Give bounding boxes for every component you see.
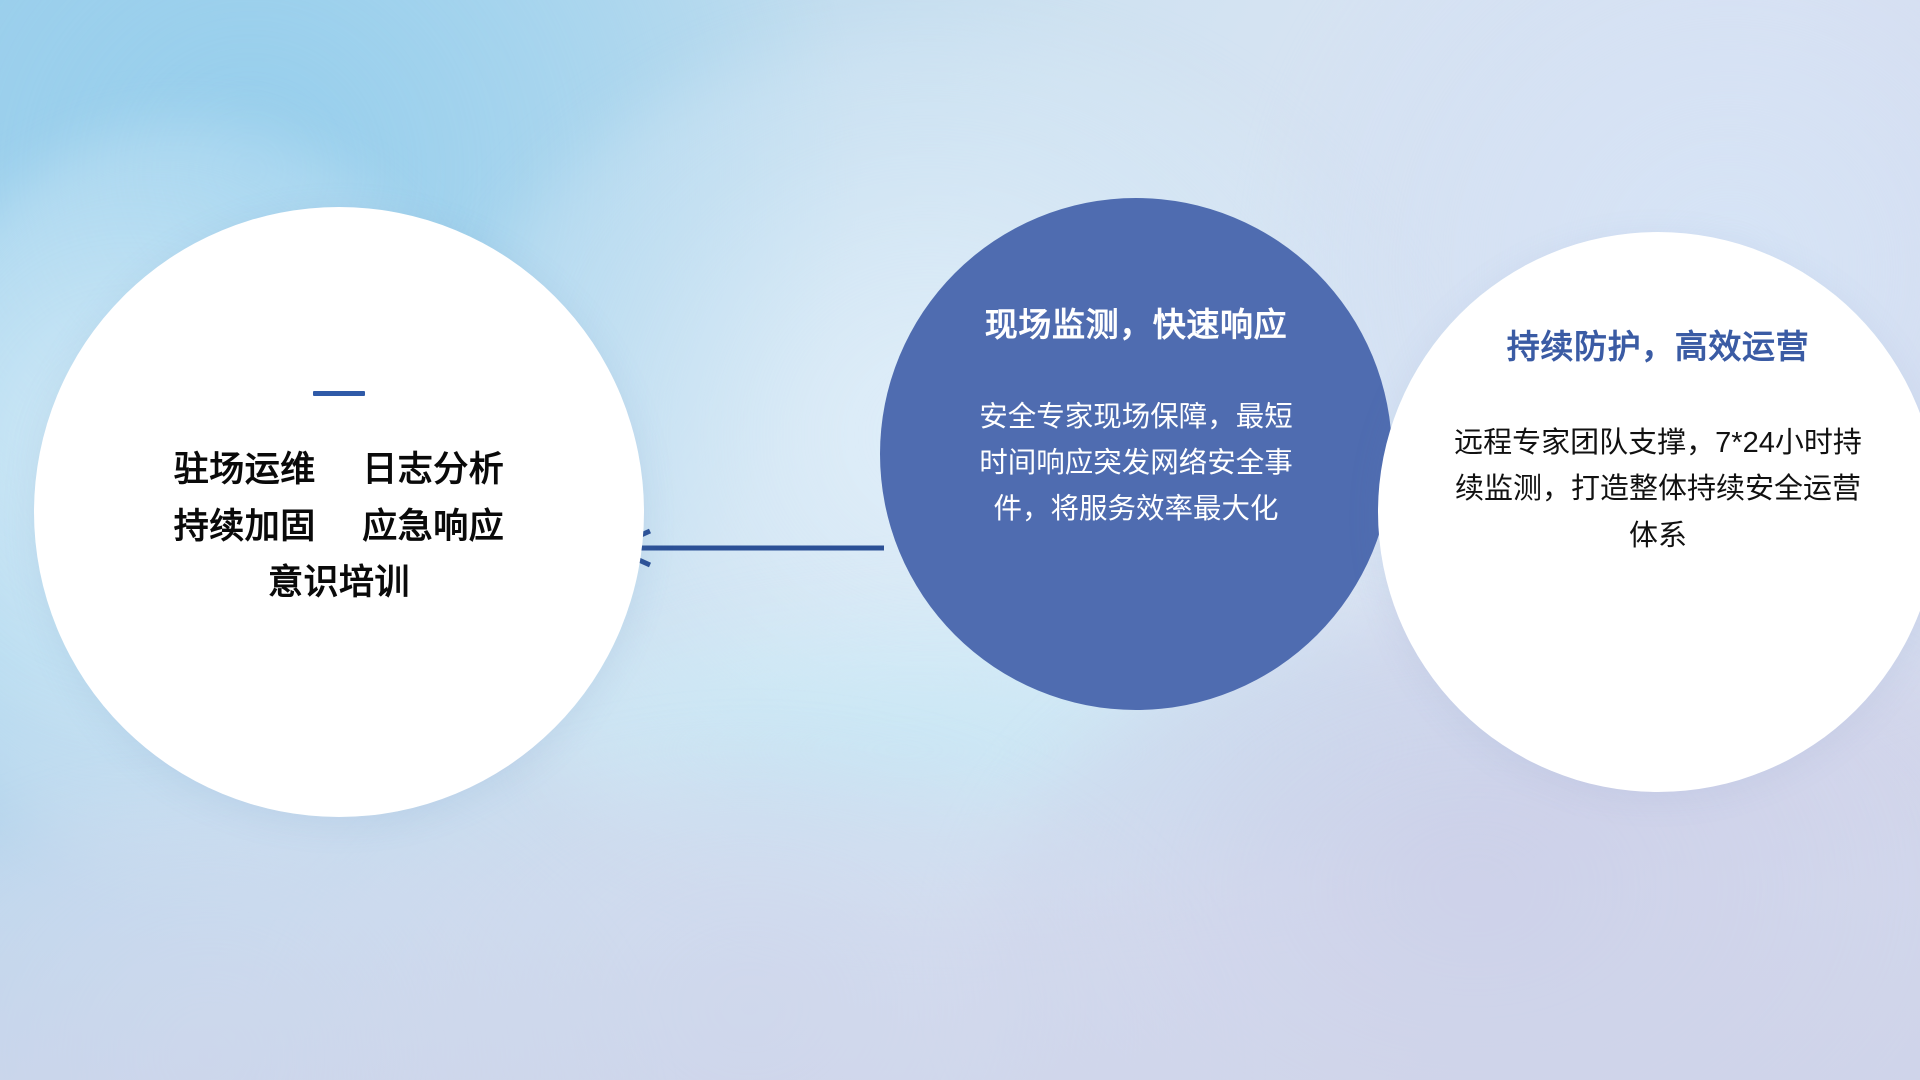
capabilities-row: 意识培训	[174, 555, 505, 612]
onsite-monitoring-title: 现场监测，快速响应	[985, 298, 1287, 346]
capability-label: 日志分析	[362, 450, 504, 489]
onsite-monitoring-body: 安全专家现场保障，最短时间响应突发网络安全事件，将服务效率最大化	[971, 394, 1301, 532]
capability-label: 意识培训	[268, 563, 410, 602]
capabilities-circle[interactable]: 驻场运维 日志分析 持续加固 应急响应 意识培训	[34, 207, 644, 817]
continuous-protection-title: 持续防护，高效运营	[1507, 320, 1809, 368]
capabilities-row: 驻场运维 日志分析	[174, 442, 505, 499]
slide-canvas: 驻场运维 日志分析 持续加固 应急响应 意识培训 现场监测，快速响应 安全专家现…	[0, 0, 1920, 1080]
divider-dash-icon	[313, 391, 365, 396]
capability-label: 持续加固	[174, 507, 316, 546]
capability-label: 应急响应	[362, 507, 504, 546]
onsite-monitoring-circle[interactable]: 现场监测，快速响应 安全专家现场保障，最短时间响应突发网络安全事件，将服务效率最…	[880, 198, 1392, 710]
capability-label: 驻场运维	[174, 450, 316, 489]
capabilities-row: 持续加固 应急响应	[174, 499, 505, 556]
continuous-protection-circle[interactable]: 持续防护，高效运营 远程专家团队支撑，7*24小时持续监测，打造整体持续安全运营…	[1378, 232, 1920, 792]
capabilities-list: 驻场运维 日志分析 持续加固 应急响应 意识培训	[174, 442, 505, 612]
continuous-protection-body: 远程专家团队支撑，7*24小时持续监测，打造整体持续安全运营体系	[1450, 420, 1866, 559]
